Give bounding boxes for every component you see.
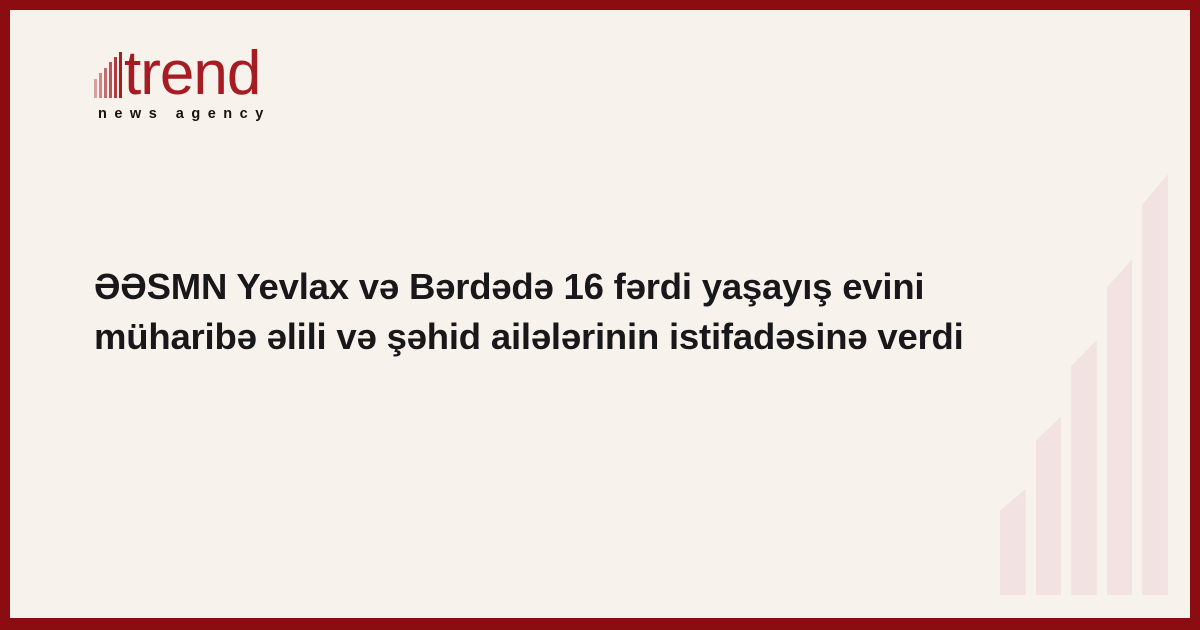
logo-bar-5 xyxy=(114,57,117,98)
logo-mark-row: trend xyxy=(94,38,414,100)
logo-bar-2 xyxy=(99,73,102,98)
ascending-bars-icon xyxy=(94,52,122,98)
watermark-bar-2 xyxy=(1036,417,1062,596)
news-share-card: trend news agency ƏƏSMN Yevlax və Bərdəd… xyxy=(0,0,1200,630)
card-border-bottom xyxy=(0,618,1200,630)
trend-logo[interactable]: trend news agency xyxy=(94,38,414,122)
watermark-bar-5 xyxy=(1142,174,1168,595)
card-border-left xyxy=(0,0,10,630)
watermark-bar-1 xyxy=(1000,489,1026,595)
headline-text: ƏƏSMN Yevlax və Bərdədə 16 fərdi yaşayış… xyxy=(94,262,994,363)
logo-bar-3 xyxy=(104,68,107,98)
watermark-bar-4 xyxy=(1107,259,1133,595)
logo-bar-6 xyxy=(119,52,122,98)
card-border-right xyxy=(1190,0,1200,630)
logo-tagline: news agency xyxy=(98,106,414,122)
ascending-bars-watermark xyxy=(1000,170,1168,595)
logo-bar-4 xyxy=(109,62,112,98)
logo-bar-1 xyxy=(94,79,97,98)
logo-wordmark: trend xyxy=(124,47,260,100)
card-border-top xyxy=(0,0,1200,10)
watermark-bar-3 xyxy=(1071,340,1097,595)
